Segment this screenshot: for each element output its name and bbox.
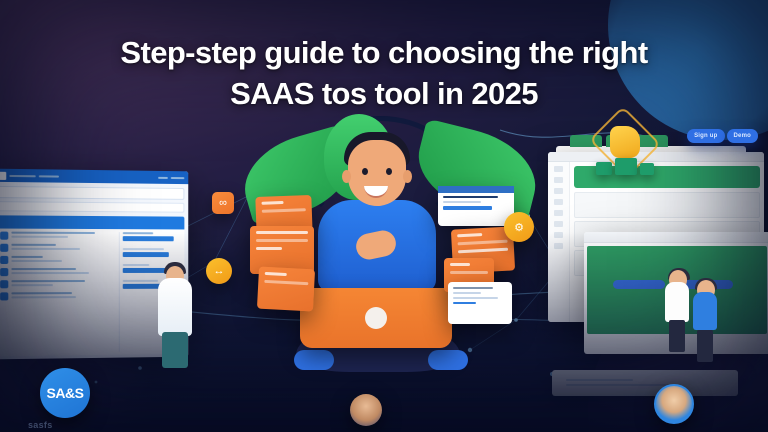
nav-item[interactable]	[554, 199, 563, 205]
infinity-icon-badge[interactable]: ∞	[212, 192, 234, 214]
right-dashboard-topbar	[548, 152, 764, 162]
nav-item[interactable]	[554, 221, 563, 227]
gear-icon: ⚙	[514, 221, 524, 234]
signup-button[interactable]: Sign up	[687, 129, 724, 143]
demo-button[interactable]: Demo	[727, 129, 758, 143]
floating-card-orange[interactable]	[257, 267, 315, 312]
eye-right	[386, 168, 392, 175]
pill-button-group[interactable]: Sign up Demo	[687, 129, 758, 143]
content-card[interactable]	[574, 192, 760, 218]
laptop-logo-icon	[365, 307, 387, 329]
section-header-bar	[0, 215, 184, 229]
eye-left	[362, 168, 368, 175]
watermark-text: sasfs	[28, 420, 53, 430]
filter-input[interactable]	[0, 201, 184, 213]
orange-laptop	[300, 288, 452, 348]
app-logo-icon	[0, 171, 6, 179]
headline-line-2: SAAS tos tool in 2025	[36, 74, 732, 115]
ear-right	[403, 170, 412, 183]
avatar-center[interactable]	[350, 394, 382, 426]
floating-window-white[interactable]	[448, 282, 512, 324]
shoe-left	[294, 350, 334, 370]
person-illustration-left	[152, 262, 198, 370]
search-input[interactable]	[0, 186, 184, 200]
saas-logo-badge[interactable]: SA&S	[40, 368, 90, 418]
ear-left	[342, 170, 351, 183]
avatar-right[interactable]	[654, 384, 694, 424]
nav-item[interactable]	[554, 177, 563, 183]
person-illustration-right-b	[688, 278, 722, 364]
headline-line-1: Step-step guide to choosing the right	[120, 35, 647, 70]
nav-item[interactable]	[554, 210, 563, 216]
nav-item[interactable]	[554, 188, 563, 194]
mini-card-group	[596, 158, 654, 175]
saas-logo-text: SA&S	[47, 385, 84, 401]
gear-icon-badge[interactable]: ⚙	[504, 212, 534, 242]
floating-window-white[interactable]	[438, 186, 514, 226]
page-title: Step-step guide to choosing the right SA…	[0, 33, 768, 115]
share-icon: ↔	[214, 265, 225, 277]
infinity-icon: ∞	[219, 197, 227, 209]
nav-item[interactable]	[554, 166, 563, 172]
promotional-banner: Step-step guide to choosing the right SA…	[0, 0, 768, 432]
hero-person-illustration	[286, 112, 476, 370]
shoe-right	[428, 350, 468, 370]
share-icon-badge[interactable]: ↔	[206, 258, 232, 284]
